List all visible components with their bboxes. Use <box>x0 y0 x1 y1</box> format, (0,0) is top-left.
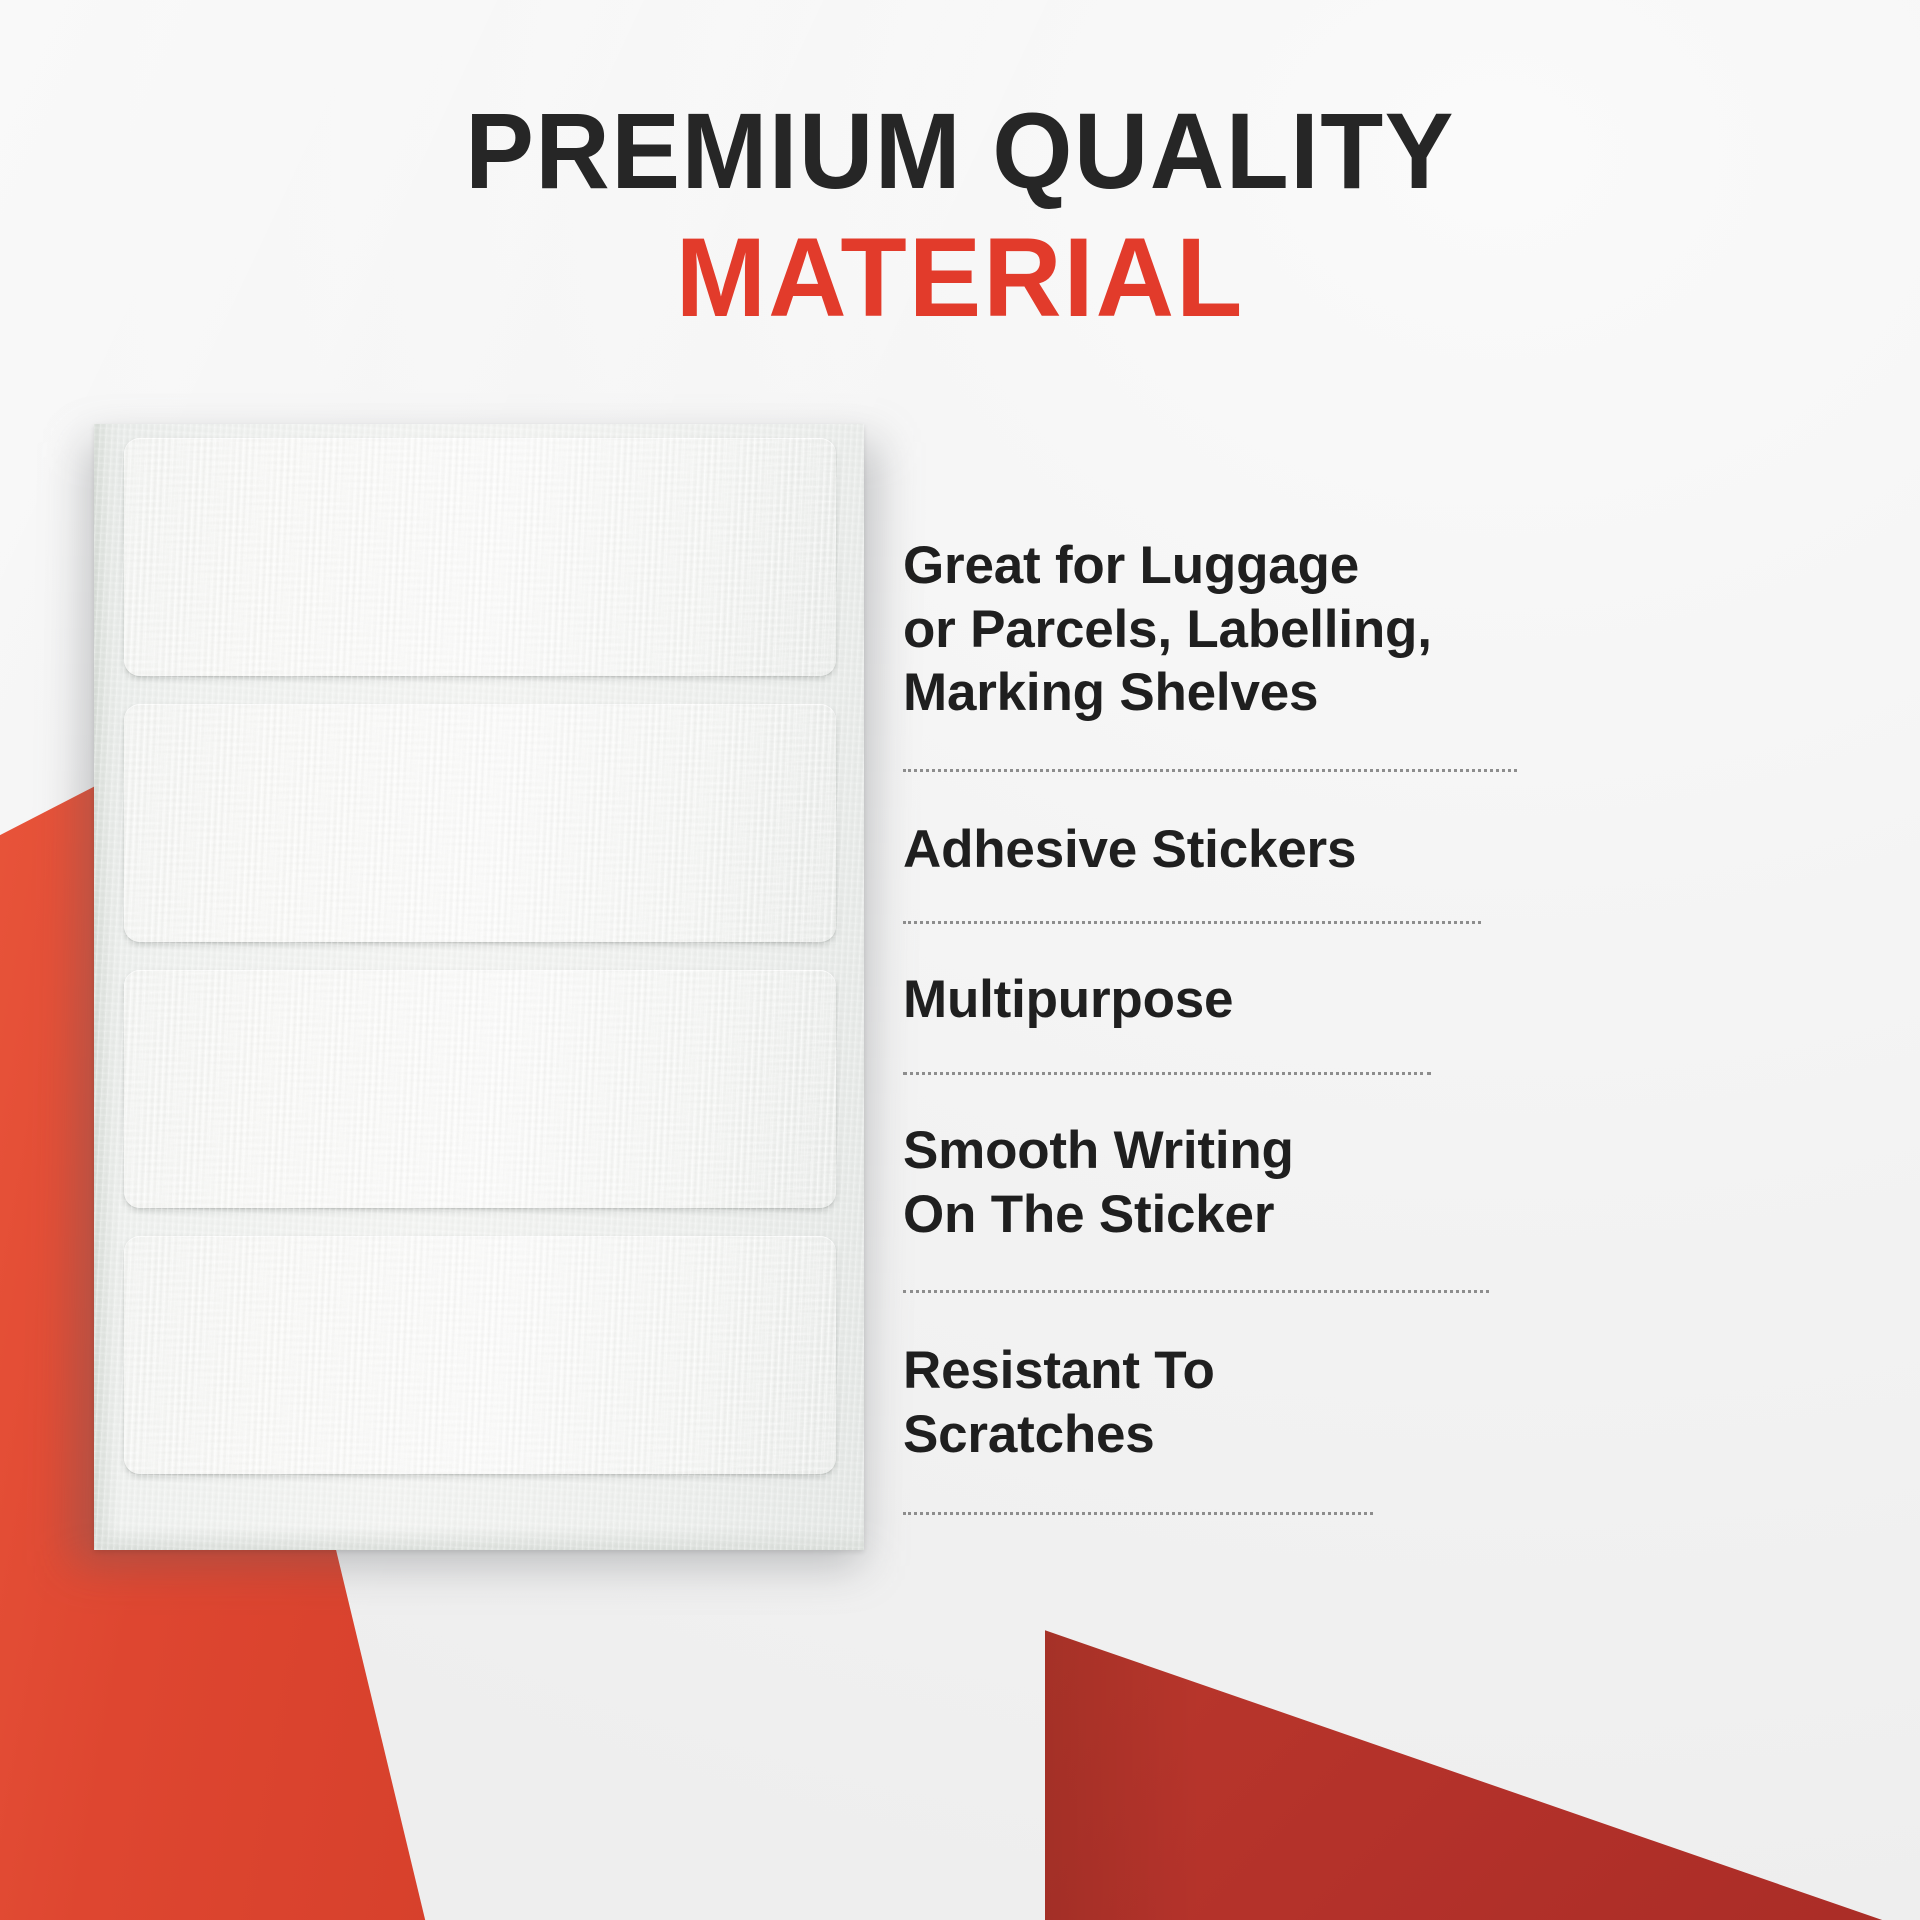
feature-item-adhesive-stickers: Adhesive Stickers <box>903 818 1563 882</box>
feature-item-luggage-parcels: Great for Luggage or Parcels, Labelling,… <box>903 534 1563 725</box>
product-image-label-sheet <box>94 424 864 1550</box>
feature-divider <box>903 1290 1489 1293</box>
feature-item-scratch-resistant: Resistant To Scratches <box>903 1339 1563 1466</box>
headline-accent: MATERIAL <box>29 222 1891 334</box>
label-sticker <box>124 1236 836 1474</box>
feature-list: Great for Luggage or Parcels, Labelling,… <box>903 534 1563 1515</box>
headline-block: PREMIUM QUALITY MATERIAL <box>0 96 1920 334</box>
feature-divider <box>903 921 1481 924</box>
label-backing-sheet <box>94 424 864 1550</box>
sheet-edge-left <box>94 424 120 1550</box>
label-sticker <box>124 970 836 1208</box>
feature-divider <box>903 769 1517 772</box>
label-sticker <box>124 704 836 942</box>
feature-item-multipurpose: Multipurpose <box>903 968 1563 1032</box>
sheet-edge-bottom <box>94 1526 864 1550</box>
label-sticker <box>124 438 836 676</box>
feature-item-smooth-writing: Smooth Writing On The Sticker <box>903 1119 1563 1246</box>
feature-divider <box>903 1512 1373 1515</box>
feature-divider <box>903 1072 1431 1075</box>
headline-primary: PREMIUM QUALITY <box>43 96 1877 206</box>
promo-banner: PREMIUM QUALITY MATERIAL Great for Lugga… <box>0 0 1920 1920</box>
